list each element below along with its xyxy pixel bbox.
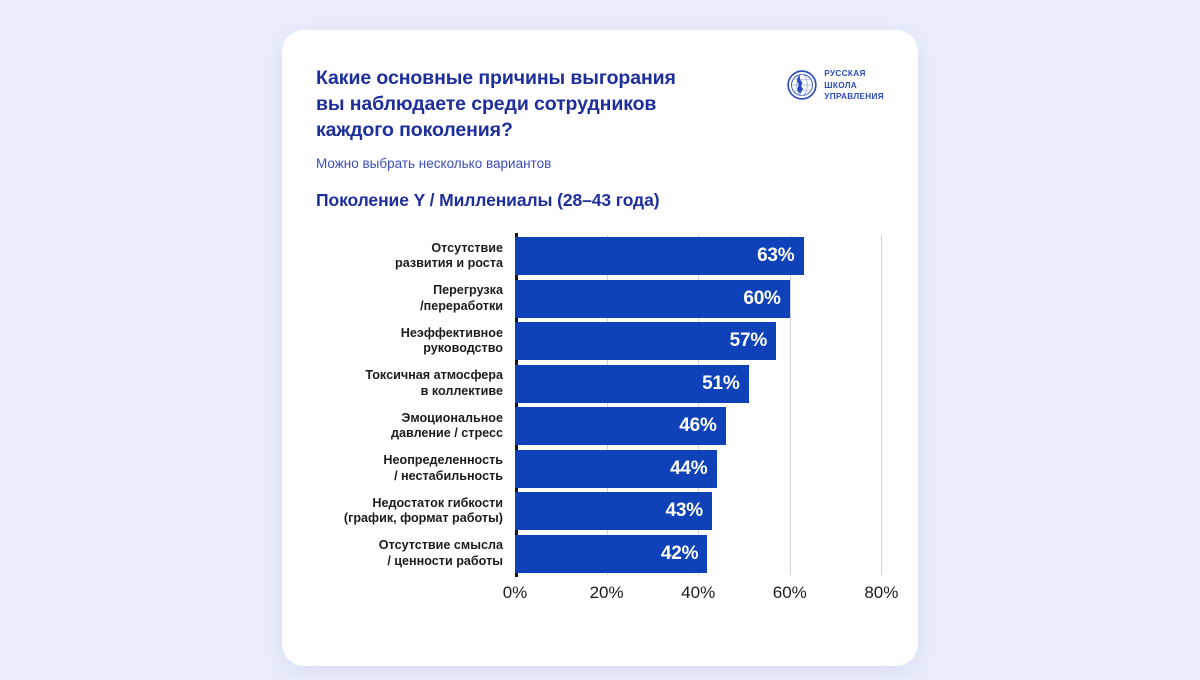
chart-bar-area: 63% [515, 235, 918, 278]
chart-row: Неопределенность / нестабильность44% [282, 448, 918, 491]
chart-bar-area: 42% [515, 533, 918, 576]
chart-x-tick-label: 40% [681, 583, 715, 603]
chart-bar-value-label: 63% [757, 245, 803, 267]
chart-row: Неэффективное руководство57% [282, 320, 918, 363]
chart-bar-area: 60% [515, 278, 918, 321]
logo-line-3: Управления [824, 91, 884, 103]
brand-logo-text: Русская Школа Управления [824, 68, 884, 103]
chart-bar[interactable]: 57% [515, 322, 776, 360]
chart-bar-value-label: 46% [679, 415, 725, 437]
chart-row: Недостаток гибкости (график, формат рабо… [282, 490, 918, 533]
chart-bar-value-label: 60% [743, 288, 789, 310]
chart-bar-value-label: 43% [665, 500, 711, 522]
chart-row: Отсутствие развития и роста63% [282, 235, 918, 278]
chart-category-label: Неопределенность / нестабильность [282, 453, 515, 484]
chart-category-label: Эмоциональное давление / стресс [282, 411, 515, 442]
card-header: Какие основные причины выгорания вы набл… [282, 30, 918, 172]
chart-x-tick-label: 0% [503, 583, 528, 603]
chart-x-axis-labels: 0%20%40%60%80% [515, 583, 918, 613]
chart-bar-value-label: 42% [661, 543, 707, 565]
chart-bar[interactable]: 42% [515, 535, 707, 573]
chart-category-label: Токсичная атмосфера в коллективе [282, 368, 515, 399]
chart-x-tick-label: 20% [590, 583, 624, 603]
chart-category-label: Отсутствие развития и роста [282, 241, 515, 272]
chart-x-tick-label: 60% [773, 583, 807, 603]
burnout-causes-bar-chart: Отсутствие развития и роста63%Перегрузка… [282, 235, 918, 655]
logo-line-2: Школа [824, 80, 884, 92]
chart-row: Перегрузка /переработки60% [282, 278, 918, 321]
chart-x-tick-label: 80% [864, 583, 898, 603]
chart-bar-value-label: 57% [730, 330, 776, 352]
chart-bar-area: 43% [515, 490, 918, 533]
chart-bar-area: 44% [515, 448, 918, 491]
chart-bar[interactable]: 63% [515, 237, 804, 275]
chart-bar[interactable]: 46% [515, 407, 726, 445]
chart-row: Отсутствие смысла / ценности работы42% [282, 533, 918, 576]
chart-bar-area: 57% [515, 320, 918, 363]
logo-line-1: Русская [824, 68, 884, 80]
chart-bar-value-label: 51% [702, 373, 748, 395]
globe-emblem-icon [787, 70, 817, 100]
chart-category-label: Перегрузка /переработки [282, 283, 515, 314]
chart-bar[interactable]: 43% [515, 492, 712, 530]
chart-bar[interactable]: 60% [515, 280, 790, 318]
chart-bar-value-label: 44% [670, 458, 716, 480]
chart-bar[interactable]: 51% [515, 365, 749, 403]
page-subtitle: Можно выбрать несколько вариантов [316, 155, 708, 173]
chart-row: Токсичная атмосфера в коллективе51% [282, 363, 918, 406]
chart-category-label: Неэффективное руководство [282, 326, 515, 357]
chart-category-label: Недостаток гибкости (график, формат рабо… [282, 496, 515, 527]
chart-row: Эмоциональное давление / стресс46% [282, 405, 918, 448]
chart-bar[interactable]: 44% [515, 450, 717, 488]
chart-category-label: Отсутствие смысла / ценности работы [282, 538, 515, 569]
chart-bar-area: 51% [515, 363, 918, 406]
chart-section-title: Поколение Y / Миллениалы (28–43 года) [316, 190, 659, 211]
survey-result-card: Какие основные причины выгорания вы набл… [282, 30, 918, 666]
title-block: Какие основные причины выгорания вы набл… [316, 66, 708, 172]
brand-logo: Русская Школа Управления [787, 68, 884, 103]
chart-bar-area: 46% [515, 405, 918, 448]
page-title: Какие основные причины выгорания вы набл… [316, 66, 708, 144]
